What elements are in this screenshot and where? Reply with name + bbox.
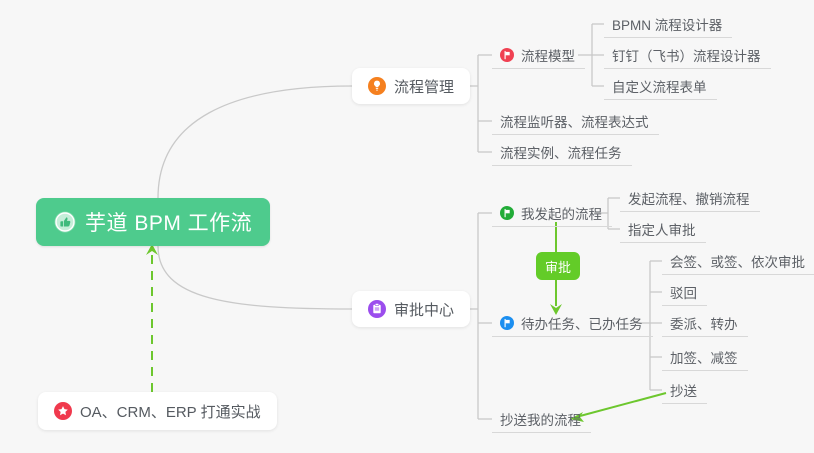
node-label: 抄送我的流程 xyxy=(500,409,581,429)
node-label: 抄送 xyxy=(670,380,697,400)
node-process-instance-task[interactable]: 流程实例、流程任务 xyxy=(492,138,632,166)
node-delegate-transfer[interactable]: 委派、转办 xyxy=(662,309,748,337)
node-start-cancel-process[interactable]: 发起流程、撤销流程 xyxy=(620,184,760,212)
flag-icon xyxy=(500,48,514,62)
lightbulb-icon xyxy=(368,77,386,95)
node-countersign-orsign-sequential[interactable]: 会签、或签、依次审批 xyxy=(662,247,814,275)
node-label: 驳回 xyxy=(670,282,697,302)
flag-icon xyxy=(500,206,514,220)
node-process-listener-expression[interactable]: 流程监听器、流程表达式 xyxy=(492,107,659,135)
node-bpmn-designer[interactable]: BPMN 流程设计器 xyxy=(604,10,732,38)
thumbs-up-icon xyxy=(54,211,76,233)
node-label: 指定人审批 xyxy=(628,219,696,239)
star-icon xyxy=(54,402,72,420)
node-label: 流程实例、流程任务 xyxy=(500,142,622,162)
node-dingtalk-feishu-designer[interactable]: 钉钉（飞书）流程设计器 xyxy=(604,41,771,69)
branch-process-management[interactable]: 流程管理 xyxy=(352,68,470,104)
mindmap-canvas: 芋道 BPM 工作流 流程管理 流程模型 BPMN 流程设计器 钉钉（飞书）流程 xyxy=(0,0,814,453)
node-label: 钉钉（飞书）流程设计器 xyxy=(612,45,761,65)
clipboard-icon xyxy=(368,300,386,318)
flag-icon xyxy=(500,316,514,330)
node-cc-to-me-process[interactable]: 抄送我的流程 xyxy=(492,405,591,433)
node-todo-done-tasks[interactable]: 待办任务、已办任务 xyxy=(492,309,653,337)
approval-badge[interactable]: 审批 xyxy=(536,252,580,280)
node-add-remove-sign[interactable]: 加签、减签 xyxy=(662,343,748,371)
node-label: 待办任务、已办任务 xyxy=(521,313,643,333)
node-label: OA、CRM、ERP 打通实战 xyxy=(80,401,261,422)
approval-badge-label: 审批 xyxy=(545,257,571,276)
root-label: 芋道 BPM 工作流 xyxy=(85,207,252,237)
node-label: 会签、或签、依次审批 xyxy=(670,251,805,271)
node-reject[interactable]: 驳回 xyxy=(662,278,707,306)
node-process-model[interactable]: 流程模型 xyxy=(492,41,585,69)
node-label: 我发起的流程 xyxy=(521,203,602,223)
edge-root-to-approval-center xyxy=(158,246,352,309)
node-label: 加签、减签 xyxy=(670,347,738,367)
branch-label: 审批中心 xyxy=(394,299,454,320)
node-assignee-approval[interactable]: 指定人审批 xyxy=(620,215,706,243)
node-cc[interactable]: 抄送 xyxy=(662,376,707,404)
node-label: 发起流程、撤销流程 xyxy=(628,188,750,208)
node-label: 流程监听器、流程表达式 xyxy=(500,111,649,131)
node-integration-practice[interactable]: OA、CRM、ERP 打通实战 xyxy=(38,392,277,430)
arrow-integration-to-root xyxy=(146,244,158,392)
node-label: 自定义流程表单 xyxy=(612,76,707,96)
branch-label: 流程管理 xyxy=(394,76,454,97)
node-label: BPMN 流程设计器 xyxy=(612,14,722,34)
branch-approval-center[interactable]: 审批中心 xyxy=(352,291,470,327)
edge-root-to-process-management xyxy=(158,86,352,198)
node-label: 流程模型 xyxy=(521,45,575,65)
node-my-initiated-process[interactable]: 我发起的流程 xyxy=(492,199,612,227)
node-custom-process-form[interactable]: 自定义流程表单 xyxy=(604,72,717,100)
node-label: 委派、转办 xyxy=(670,313,738,333)
root-node[interactable]: 芋道 BPM 工作流 xyxy=(36,198,270,246)
